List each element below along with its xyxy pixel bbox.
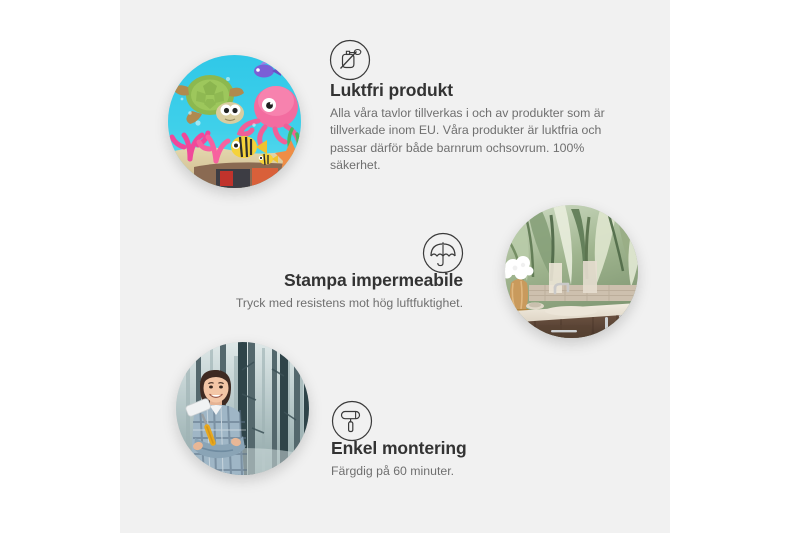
feature-description: Tryck med resistens mot hög luftfuktighe…: [203, 295, 463, 312]
feature-text-waterproof: Stampa impermeabile Tryck med resistens …: [203, 270, 463, 312]
feature-title: Luktfri produkt: [330, 80, 620, 102]
feature-description: Alla våra tavlor tillverkas i och av pro…: [330, 105, 620, 175]
feature-title: Enkel montering: [331, 438, 611, 460]
feature-title: Stampa impermeabile: [203, 270, 463, 292]
forest-mural-photo: [176, 342, 309, 475]
feature-description: Färgdig på 60 minuter.: [331, 463, 611, 480]
feature-text-odourless: Luktfri produkt Alla våra tavlor tillver…: [330, 80, 620, 175]
feature-text-mounting: Enkel montering Färgdig på 60 minuter.: [331, 438, 611, 480]
paint-roller-icon: [331, 400, 373, 442]
no-fragrance-icon: [329, 39, 371, 81]
underwater-cartoon-photo: [168, 55, 301, 188]
bathroom-wallpaper-photo: [505, 205, 638, 338]
umbrella-icon: [422, 232, 464, 274]
